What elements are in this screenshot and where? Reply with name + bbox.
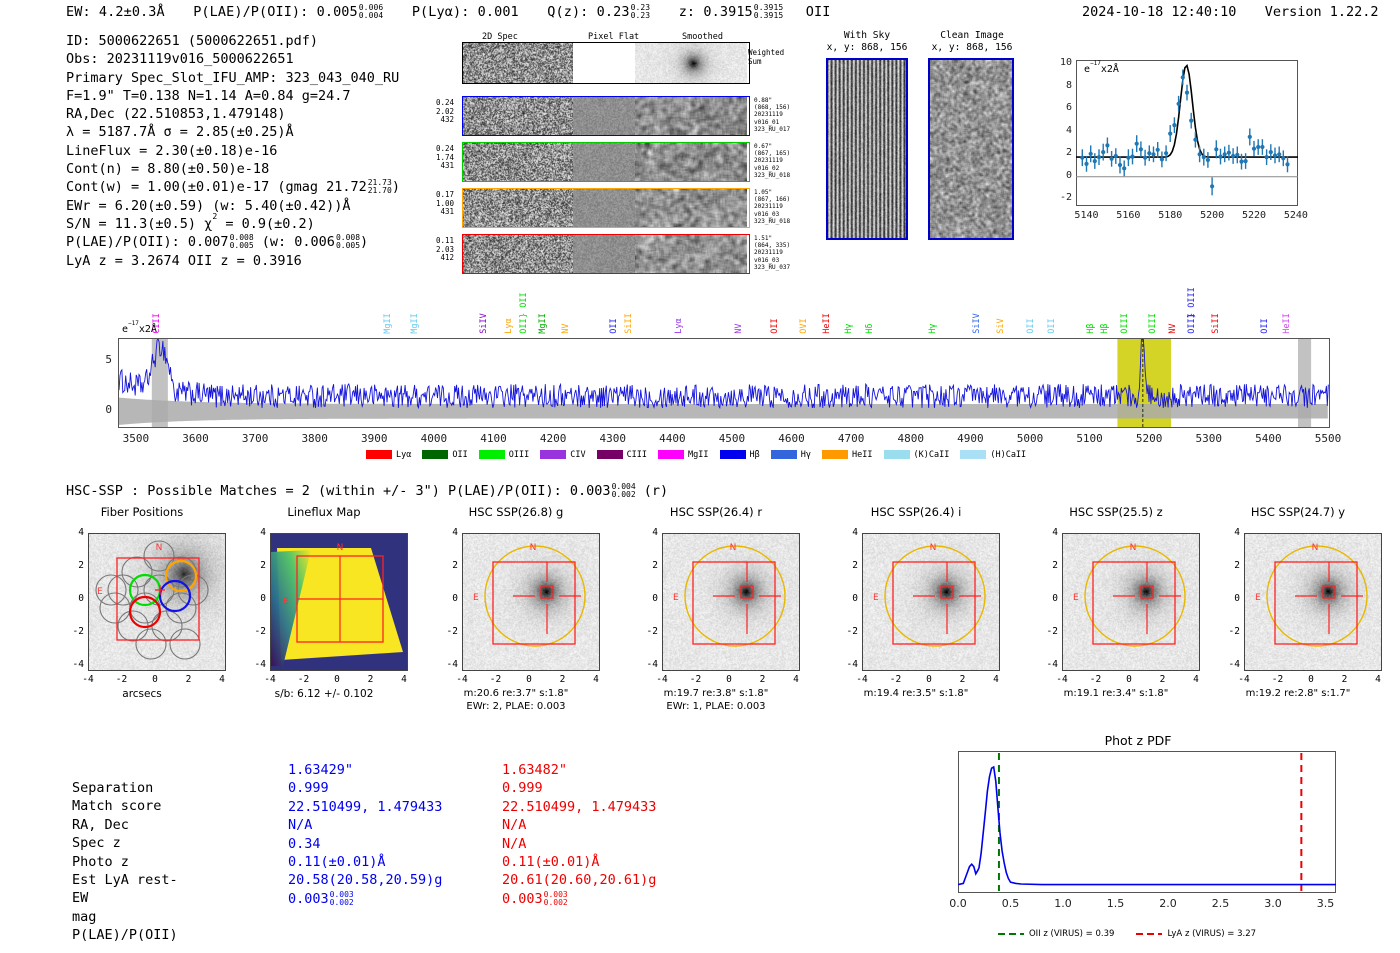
cutout-xtick: 2	[357, 674, 385, 685]
cutout-xlabel: s/b: 6.12 +/- 0.102	[228, 688, 420, 701]
legend-swatch	[366, 450, 392, 459]
info-cont-w-lo: 21.70	[368, 187, 392, 195]
cutout-ytick: -4	[638, 659, 658, 670]
spec2d-stat: 431	[420, 162, 454, 171]
legend-label: OIII	[509, 450, 529, 460]
phot-z-xtick: 3.5	[1306, 897, 1346, 910]
spectrum-xtick: 3700	[230, 432, 280, 445]
spec2d-meta: v016_02	[754, 165, 810, 172]
with-sky-thumbnail	[826, 58, 908, 240]
cutout-ytick: -4	[246, 659, 266, 670]
header-z-lo: 0.3915	[754, 12, 784, 20]
cutout-title: Fiber Positions	[52, 505, 232, 519]
cutout-xtick: 0	[515, 674, 543, 685]
clean-image-caption: Clean Image x, y: 868, 156	[922, 30, 1022, 53]
cutout-xtick: 2	[549, 674, 577, 685]
phot-z-xtick: 1.0	[1043, 897, 1083, 910]
cutout-ytick: 0	[1038, 593, 1058, 604]
line-fit-xtick: 5200	[1192, 210, 1232, 221]
cutout-caption-photometry: m:19.1 re:3.4" s:1.8"	[1028, 688, 1204, 701]
spectrum-xtick: 5100	[1065, 432, 1115, 445]
match-table-label: Match score	[72, 797, 178, 815]
header-plae-lo: 0.004	[359, 12, 384, 20]
line-fit-xtick: 5180	[1150, 210, 1190, 221]
spectrum-xtick: 5300	[1184, 432, 1234, 445]
header-plae-value: 0.005	[317, 4, 358, 20]
cutout-caption-photometry: m:19.2 re:2.8" s:1.7"	[1210, 688, 1386, 701]
svg-text:E: E	[1073, 593, 1079, 603]
legend-swatch	[540, 450, 566, 459]
spectrum-ytick: 5	[82, 353, 112, 366]
spec2d-stat: 432	[420, 116, 454, 125]
spectrum-legend: LyαOIIOIIICIVCIIIMgIIHβHγHeII(K)CaII(H)C…	[366, 444, 1037, 463]
match-table-value: N/A	[288, 816, 442, 834]
spec2d-meta: 0.67"	[754, 143, 810, 150]
legend-label: Hγ	[801, 450, 811, 460]
match-plae-value: 0.003	[502, 891, 543, 907]
cutout-caption-photometry: m:20.6 re:3.7" s:1.8"	[428, 688, 604, 701]
cutout-image[interactable]: NE	[862, 533, 1000, 671]
svg-text:E: E	[97, 587, 103, 597]
cutout-panel: HSC SSP(24.7) yNE420-2-4-4-2024m:19.2 re…	[1222, 505, 1374, 735]
phot-z-xtick: 0.5	[991, 897, 1031, 910]
spec2d-cell-2dspec	[463, 97, 573, 135]
svg-text:E: E	[1255, 593, 1261, 603]
cutout-xtick: 4	[208, 674, 236, 685]
detection-info-block: ID: 5000622651 (5000622651.pdf) Obs: 202…	[66, 32, 400, 270]
phot-z-legend-item: OII z (VIRUS) = 0.39	[998, 929, 1115, 939]
spec2d-weighted-sum-row	[462, 42, 750, 84]
spec2d-meta: (868, 156)	[754, 104, 810, 111]
legend-swatch	[422, 450, 448, 459]
line-fit-ytick: 10	[1044, 57, 1072, 68]
cutout-overlay: NE	[1245, 534, 1382, 671]
spec2d-meta: 20231119	[754, 249, 810, 256]
cutout-panel: Fiber PositionsNE420-2-4-4-2024arcsecs	[66, 505, 218, 735]
spec2d-cell-2dspec	[463, 143, 573, 181]
spec2d-meta: 1.05"	[754, 189, 810, 196]
cutout-panel: HSC SSP(25.5) zNE420-2-4-4-2024m:19.1 re…	[1040, 505, 1192, 735]
cutout-caption-photometry: m:19.7 re:3.8" s:1.8"	[628, 688, 804, 701]
cutout-ytick: -2	[246, 626, 266, 637]
match-table-value: 1.63482"	[502, 761, 656, 779]
cutout-title: HSC SSP(26.8) g	[426, 505, 606, 519]
line-fit-plot: e−17x2Å -20246810 5140516051805200522052…	[1036, 52, 1304, 234]
match-table-value: N/A	[502, 835, 656, 853]
legend-swatch	[960, 450, 986, 459]
match-table-value: 22.510499, 1.479433	[288, 798, 442, 816]
match-table-value: 1.63429"	[288, 761, 442, 779]
spectrum-legend-item: Hγ	[771, 450, 811, 460]
match-table-value: N/A	[502, 816, 656, 834]
info-wavelength-sigma: λ = 5187.7Å σ = 2.85(±0.25)Å	[66, 123, 400, 141]
weighted-sum-label: Weighted Sum	[748, 48, 804, 66]
cutout-ytick: 0	[64, 593, 84, 604]
cutout-xtick: 2	[949, 674, 977, 685]
match-table-value: 0.11(±0.01)Å	[502, 853, 656, 871]
cutout-ytick: -2	[1038, 626, 1058, 637]
cutout-ytick: 2	[438, 560, 458, 571]
spec2d-fiber-row	[462, 188, 750, 228]
info-id: ID: 5000622651 (5000622651.pdf)	[66, 32, 400, 50]
cutout-xtick: -4	[256, 674, 284, 685]
spectrum-xtick: 5500	[1303, 432, 1353, 445]
line-fit-ytick: 4	[1044, 125, 1072, 136]
cutout-title: HSC SSP(26.4) r	[626, 505, 806, 519]
line-fit-xtick: 5140	[1066, 210, 1106, 221]
info-primary-slot: Primary Spec_Slot_IFU_AMP: 323_043_040_R…	[66, 69, 400, 87]
cutout-ytick: 4	[1220, 527, 1240, 538]
cutout-xtick: -2	[1082, 674, 1110, 685]
spectrum-legend-item: CIV	[540, 450, 585, 460]
header-qz-lo: 0.23	[631, 12, 651, 20]
cutout-ytick: 2	[64, 560, 84, 571]
cutout-ytick: 4	[838, 527, 858, 538]
spec2d-meta: v016_03	[754, 211, 810, 218]
spec2d-title-pixelflat: Pixel Flat	[588, 32, 639, 42]
cutout-image[interactable]: NE	[270, 533, 408, 671]
legend-swatch	[771, 450, 797, 459]
svg-text:E: E	[673, 593, 679, 603]
header-ew: EW: 4.2±0.3Å	[66, 4, 165, 20]
cutout-xtick: 0	[715, 674, 743, 685]
cutout-xtick: 0	[1115, 674, 1143, 685]
info-plae-text: P(LAE)/P(OII): 0.007	[66, 234, 229, 250]
legend-label: Hβ	[750, 450, 760, 460]
match-table-value: 0.11(±0.01)Å	[288, 853, 442, 871]
match-table-value: 0.34	[288, 835, 442, 853]
svg-text:N: N	[930, 543, 937, 553]
match-table-label: Spec z	[72, 834, 178, 852]
cutout-xtick: -4	[74, 674, 102, 685]
match-table-label: Photo z	[72, 853, 178, 871]
cutout-xtick: 4	[982, 674, 1010, 685]
match-table-value: 20.61(20.60,20.61)g	[502, 871, 656, 889]
legend-label: CIV	[570, 450, 585, 460]
spec2d-cell-pixelflat	[573, 43, 635, 83]
cutout-xtick: 0	[141, 674, 169, 685]
clean-image-title: Clean Image	[922, 30, 1022, 42]
spectrum-legend-item: (K)CaII	[884, 450, 950, 460]
spec2d-meta: 20231119	[754, 157, 810, 164]
spec2d-stat: 431	[420, 208, 454, 217]
legend-label: OII	[452, 450, 467, 460]
svg-text:E: E	[283, 597, 289, 607]
spectrum-xtick: 3600	[170, 432, 220, 445]
spec2d-row-stats: 0.241.74431	[420, 145, 454, 171]
spec2d-cell-pixelflat	[573, 189, 635, 227]
match-table-label: mag	[72, 908, 178, 926]
svg-text:N: N	[156, 543, 163, 553]
cutout-xtick: -2	[108, 674, 136, 685]
spec2d-meta: (867, 166)	[754, 196, 810, 203]
phot-z-xtick: 1.5	[1096, 897, 1136, 910]
spec2d-row-meta: 0.67"(867, 165)20231119v016_02323_RU_018	[754, 143, 810, 179]
spec2d-cell-spacer	[747, 189, 749, 227]
legend-label: MgII	[688, 450, 708, 460]
cutout-ytick: -4	[838, 659, 858, 670]
match-table-value: 22.510499, 1.479433	[502, 798, 656, 816]
match-table-label: Est LyA rest-EW	[72, 871, 178, 908]
match-table-red-column: 1.63482"0.99922.510499, 1.479433N/AN/A0.…	[502, 761, 656, 908]
spec2d-fiber-row	[462, 142, 750, 182]
match-table-label: RA, Dec	[72, 816, 178, 834]
hsc-headline-tail: (r)	[644, 483, 668, 499]
match-table-labels: SeparationMatch scoreRA, DecSpec zPhoto …	[72, 779, 178, 945]
cutout-ytick: 4	[438, 527, 458, 538]
spectrum-ytick: 0	[82, 403, 112, 416]
clean-image-coords: x, y: 868, 156	[922, 42, 1022, 54]
cutout-xtick: 4	[582, 674, 610, 685]
cutout-ytick: -2	[838, 626, 858, 637]
cutout-ytick: -4	[1220, 659, 1240, 670]
cutout-title: HSC SSP(26.4) i	[826, 505, 1006, 519]
legend-swatch	[479, 450, 505, 459]
line-fit-ytick: 8	[1044, 80, 1072, 91]
phot-z-title: Phot z PDF	[932, 733, 1344, 748]
cutout-caption-ewr: EWr: 1, PLAE: 0.003	[628, 701, 804, 714]
spectrum-legend-item: OII	[422, 450, 467, 460]
spec2d-row-stats: 0.242.02432	[420, 99, 454, 125]
cutout-xtick: -4	[648, 674, 676, 685]
spec2d-stat: 412	[420, 254, 454, 263]
legend-label: CIII	[627, 450, 647, 460]
cutout-xtick: -4	[1230, 674, 1258, 685]
cutout-ytick: 2	[1220, 560, 1240, 571]
cutout-image[interactable]: NE	[1244, 533, 1382, 671]
spec2d-cell-smoothed	[635, 97, 747, 135]
match-table-label: P(LAE)/P(OII)	[72, 926, 178, 944]
spectrum-legend-item: Lyα	[366, 450, 411, 460]
hsc-headline-text: HSC-SSP : Possible Matches = 2 (within +…	[66, 483, 611, 499]
cutout-ytick: 4	[638, 527, 658, 538]
phot-z-legend-dash	[998, 930, 1024, 938]
spec2d-row-meta: 0.88"(868, 156)20231119v016_01323_RU_017	[754, 97, 810, 133]
cutout-ytick: 0	[638, 593, 658, 604]
spec2d-meta: 323_RU_018	[754, 172, 810, 179]
header-timestamp-version: 2024-10-18 12:40:10 Version 1.22.2	[1082, 4, 1379, 20]
spec2d-meta: v016_01	[754, 119, 810, 126]
match-plae-lo: 0.002	[544, 899, 568, 907]
cutout-ytick: 2	[638, 560, 658, 571]
svg-text:E: E	[473, 593, 479, 603]
legend-label: (K)CaII	[914, 450, 950, 460]
spec2d-title-smoothed: Smoothed	[682, 32, 723, 42]
cutout-panel: HSC SSP(26.8) gNE420-2-4-4-2024m:20.6 re…	[440, 505, 592, 735]
full-spectrum-flux-annotation: e−17x2Å	[122, 324, 157, 335]
cutout-ytick: -2	[438, 626, 458, 637]
spec2d-row-meta: 1.51"(864, 335)20231119v016_03323_RU_037	[754, 235, 810, 271]
spec2d-cell-2dspec	[463, 43, 573, 83]
info-obs: Obs: 20231119v016_5000622651	[66, 50, 400, 68]
spectrum-legend-item: OIII	[479, 450, 529, 460]
info-lineflux: LineFlux = 2.30(±0.18)e-16	[66, 142, 400, 160]
spectrum-legend-item: MgII	[658, 450, 708, 460]
spec2d-cell-smoothed	[635, 189, 747, 227]
info-chi2-tail: = 0.9(±0.2)	[217, 216, 315, 232]
spectrum-legend-item: HeII	[822, 450, 872, 460]
spec2d-cell-pixelflat	[573, 143, 635, 181]
info-sn-text: S/N = 11.3(±0.5) χ	[66, 216, 212, 232]
cutout-xtick: 0	[915, 674, 943, 685]
full-spectrum-axes	[118, 338, 1330, 428]
cutout-ytick: -4	[1038, 659, 1058, 670]
phot-z-xtick: 0.0	[938, 897, 978, 910]
cutout-title: HSC SSP(25.5) z	[1026, 505, 1206, 519]
spec2d-title-2dspec: 2D Spec	[482, 32, 518, 42]
cutout-ytick: 4	[246, 527, 266, 538]
hsc-headline-lo: 0.002	[612, 491, 636, 499]
cutout-image[interactable]: NE	[662, 533, 800, 671]
header-timestamp: 2024-10-18 12:40:10	[1082, 4, 1236, 20]
info-cont-w-text: Cont(w) = 1.00(±0.01)e-17 (gmag 21.72	[66, 179, 367, 195]
info-radec: RA,Dec (22.510853,1.479148)	[66, 105, 400, 123]
spectrum-legend-item: Hβ	[720, 450, 760, 460]
cutout-overlay: NE	[1063, 534, 1200, 671]
cutout-overlay: NE	[863, 534, 1000, 671]
cutout-title: HSC SSP(24.7) y	[1208, 505, 1388, 519]
match-table-blue-column: 1.63429"0.99922.510499, 1.479433N/A0.340…	[288, 761, 442, 908]
spec2d-meta: 323_RU_017	[754, 126, 810, 133]
cutout-xtick: 4	[1182, 674, 1210, 685]
phot-z-xtick: 2.0	[1148, 897, 1188, 910]
spectrum-xtick: 3800	[290, 432, 340, 445]
cutout-caption-ewr: EWr: 2, PLAE: 0.003	[428, 701, 604, 714]
line-fit-xtick: 5160	[1108, 210, 1148, 221]
info-cont-n: Cont(n) = 8.80(±0.50)e-18	[66, 160, 400, 178]
cutout-xtick: -2	[482, 674, 510, 685]
weighted-sum-line1: Weighted	[748, 48, 804, 57]
spec2d-row-stats: 0.112.03412	[420, 237, 454, 263]
phot-z-legend-dash	[1136, 930, 1162, 938]
line-fit-ytick: 0	[1044, 170, 1072, 181]
phot-z-xtick: 3.0	[1253, 897, 1293, 910]
full-spectrum-panel: } CIII} MgII} MgII} SiIV} Lyα} OII} MgII…	[66, 268, 1346, 468]
cutout-xtick: -4	[1048, 674, 1076, 685]
svg-text:E: E	[873, 593, 879, 603]
spec2d-meta: 1.51"	[754, 235, 810, 242]
cutout-xtick: -2	[290, 674, 318, 685]
emission-line-label: } OII	[519, 292, 529, 318]
match-plae-lo: 0.002	[330, 899, 354, 907]
phot-z-legend-item: LyA z (VIRUS) = 3.27	[1136, 929, 1256, 939]
cutout-xtick: 2	[749, 674, 777, 685]
emission-line-label: } OIII	[1187, 287, 1197, 318]
cutout-ytick: 2	[838, 560, 858, 571]
spec2d-row-stats: 0.171.00431	[420, 191, 454, 217]
match-table-value: 0.999	[288, 779, 442, 797]
legend-swatch	[658, 450, 684, 459]
with-sky-title: With Sky	[820, 30, 914, 42]
info-plae-mid: (w: 0.006	[254, 234, 335, 250]
info-seeing-params: F=1.9" T=0.138 N=1.14 A=0.84 g=24.7	[66, 87, 400, 105]
header-qz-value: 0.23	[597, 4, 630, 20]
spec2d-meta: 323_RU_018	[754, 218, 810, 225]
info-plae-tail: )	[360, 234, 368, 250]
cutout-ytick: 2	[246, 560, 266, 571]
header-version: Version 1.22.2	[1265, 4, 1379, 20]
line-fit-xtick: 5220	[1234, 210, 1274, 221]
header-plya: P(Lyα): 0.001	[412, 4, 519, 20]
info-plae-lo2: 0.005	[336, 242, 360, 250]
spec2d-meta: 0.88"	[754, 97, 810, 104]
spec2d-meta: 20231119	[754, 111, 810, 118]
cutout-xlabel: arcsecs	[46, 688, 238, 701]
cutout-xtick: -2	[1264, 674, 1292, 685]
cutout-ytick: 0	[246, 593, 266, 604]
match-plae-value: 0.003	[288, 891, 329, 907]
cutout-xtick: 2	[1149, 674, 1177, 685]
cutout-image[interactable]: NE	[1062, 533, 1200, 671]
header-summary-line: EW: 4.2±0.3Å P(LAE)/P(OII): 0.0050.0060.…	[66, 4, 830, 20]
cutout-ytick: 4	[1038, 527, 1058, 538]
svg-text:N: N	[1312, 543, 1319, 553]
spec2d-cell-spacer	[747, 143, 749, 181]
cutout-xtick: 2	[175, 674, 203, 685]
two-d-spectra-panel: 2D Spec Pixel Flat Smoothed 0.242.024320…	[420, 32, 800, 252]
cutout-xtick: 4	[390, 674, 418, 685]
legend-swatch	[884, 450, 910, 459]
line-fit-ytick: 6	[1044, 102, 1072, 113]
spectrum-xtick: 3500	[111, 432, 161, 445]
phot-z-legend-label: LyA z (VIRUS) = 3.27	[1167, 929, 1256, 939]
cutout-xtick: -4	[448, 674, 476, 685]
spec2d-meta: (867, 165)	[754, 150, 810, 157]
cutout-caption-photometry: m:19.4 re:3.5" s:1.8"	[828, 688, 1004, 701]
match-table-value: 0.999	[502, 779, 656, 797]
match-table-value: 0.0030.0030.002	[502, 890, 656, 908]
cutout-xtick: 0	[323, 674, 351, 685]
cutout-ytick: -2	[64, 626, 84, 637]
svg-text:N: N	[730, 543, 737, 553]
cutout-xtick: 4	[782, 674, 810, 685]
hsc-ssp-headline: HSC-SSP : Possible Matches = 2 (within +…	[66, 483, 668, 499]
cutout-title: Lineflux Map	[234, 505, 414, 519]
legend-label: Lyα	[396, 450, 411, 460]
cutout-ytick: -4	[64, 659, 84, 670]
spectrum-xtick: 5400	[1243, 432, 1293, 445]
match-table-value: 20.58(20.58,20.59)g	[288, 871, 442, 889]
line-fit-xtick: 5240	[1276, 210, 1316, 221]
cutout-panel: HSC SSP(26.4) rNE420-2-4-4-2024m:19.7 re…	[640, 505, 792, 735]
cutout-row: Fiber PositionsNE420-2-4-4-2024arcsecsLi…	[0, 505, 1400, 735]
info-cont-w: Cont(w) = 1.00(±0.01)e-17 (gmag 21.7221.…	[66, 178, 400, 196]
cutout-panel: Lineflux MapNE420-2-4-4-2024s/b: 6.12 +/…	[248, 505, 400, 735]
spectrum-legend-item: (H)CaII	[960, 450, 1026, 460]
svg-text:N: N	[337, 543, 344, 553]
info-plae-poii: P(LAE)/P(OII): 0.0070.0080.005 (w: 0.006…	[66, 233, 400, 251]
header-plae-label: P(LAE)/P(OII):	[193, 4, 308, 20]
cutout-panel: HSC SSP(26.4) iNE420-2-4-4-2024m:19.4 re…	[840, 505, 992, 735]
spec2d-meta: v016_03	[754, 257, 810, 264]
match-table-label: Separation	[72, 779, 178, 797]
spec2d-meta: (864, 335)	[754, 242, 810, 249]
info-sn-chi2: S/N = 11.3(±0.5) χ2 = 0.9(±0.2)	[66, 215, 400, 233]
spec2d-cell-smoothed	[635, 143, 747, 181]
legend-swatch	[720, 450, 746, 459]
info-ewr: EWr = 6.20(±0.59) (w: 5.40(±0.42))Å	[66, 197, 400, 215]
cutout-ytick: 0	[1220, 593, 1240, 604]
phot-z-pdf-panel: Phot z PDF 0.00.51.01.52.02.53.03.5 OII …	[932, 733, 1344, 945]
cutout-image[interactable]: NE	[462, 533, 600, 671]
lineflux-map: NE	[271, 534, 408, 671]
spec2d-fiber-row	[462, 96, 750, 136]
line-fit-ytick: -2	[1044, 192, 1072, 203]
spec2d-meta: 20231119	[754, 203, 810, 210]
phot-z-legend-label: OII z (VIRUS) = 0.39	[1029, 929, 1115, 939]
cutout-image[interactable]: NE	[88, 533, 226, 671]
cutout-overlay: NE	[463, 534, 600, 671]
